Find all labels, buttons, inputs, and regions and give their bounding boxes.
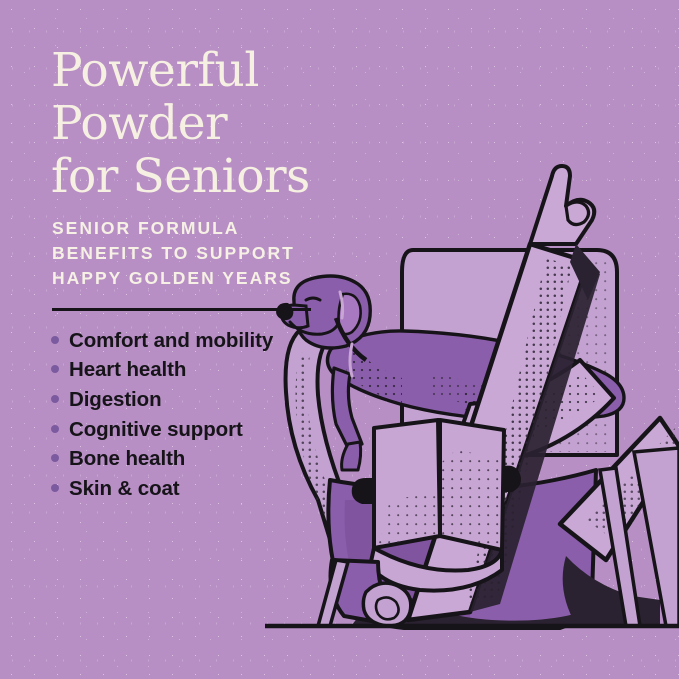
text-column: Powerful Powder for Seniors SENIOR FORMU… bbox=[51, 44, 381, 507]
benefit-label: Cognitive support bbox=[69, 419, 243, 442]
benefit-label: Bone health bbox=[69, 448, 185, 471]
list-item: Heart health bbox=[51, 359, 381, 382]
benefit-label: Comfort and mobility bbox=[69, 330, 273, 353]
list-item: Comfort and mobility bbox=[51, 330, 381, 353]
list-item: Bone health bbox=[51, 448, 381, 471]
bullet-dot-icon bbox=[51, 484, 59, 492]
benefit-label: Heart health bbox=[69, 359, 186, 382]
bullet-dot-icon bbox=[51, 365, 59, 373]
benefit-label: Digestion bbox=[69, 389, 162, 412]
bullet-dot-icon bbox=[51, 395, 59, 403]
list-item: Cognitive support bbox=[51, 419, 381, 442]
bullet-dot-icon bbox=[51, 336, 59, 344]
bullet-dot-icon bbox=[51, 425, 59, 433]
page-title: Powerful Powder for Seniors bbox=[51, 44, 381, 203]
benefits-list: Comfort and mobility Heart health Digest… bbox=[51, 330, 381, 500]
bullet-dot-icon bbox=[51, 454, 59, 462]
list-item: Digestion bbox=[51, 389, 381, 412]
poster-canvas: Powerful Powder for Seniors SENIOR FORMU… bbox=[0, 0, 679, 679]
divider-rule bbox=[52, 308, 311, 311]
list-item: Skin & coat bbox=[51, 478, 381, 501]
benefit-label: Skin & coat bbox=[69, 478, 180, 501]
subheading: SENIOR FORMULA BENEFITS TO SUPPORT HAPPY… bbox=[52, 216, 381, 291]
